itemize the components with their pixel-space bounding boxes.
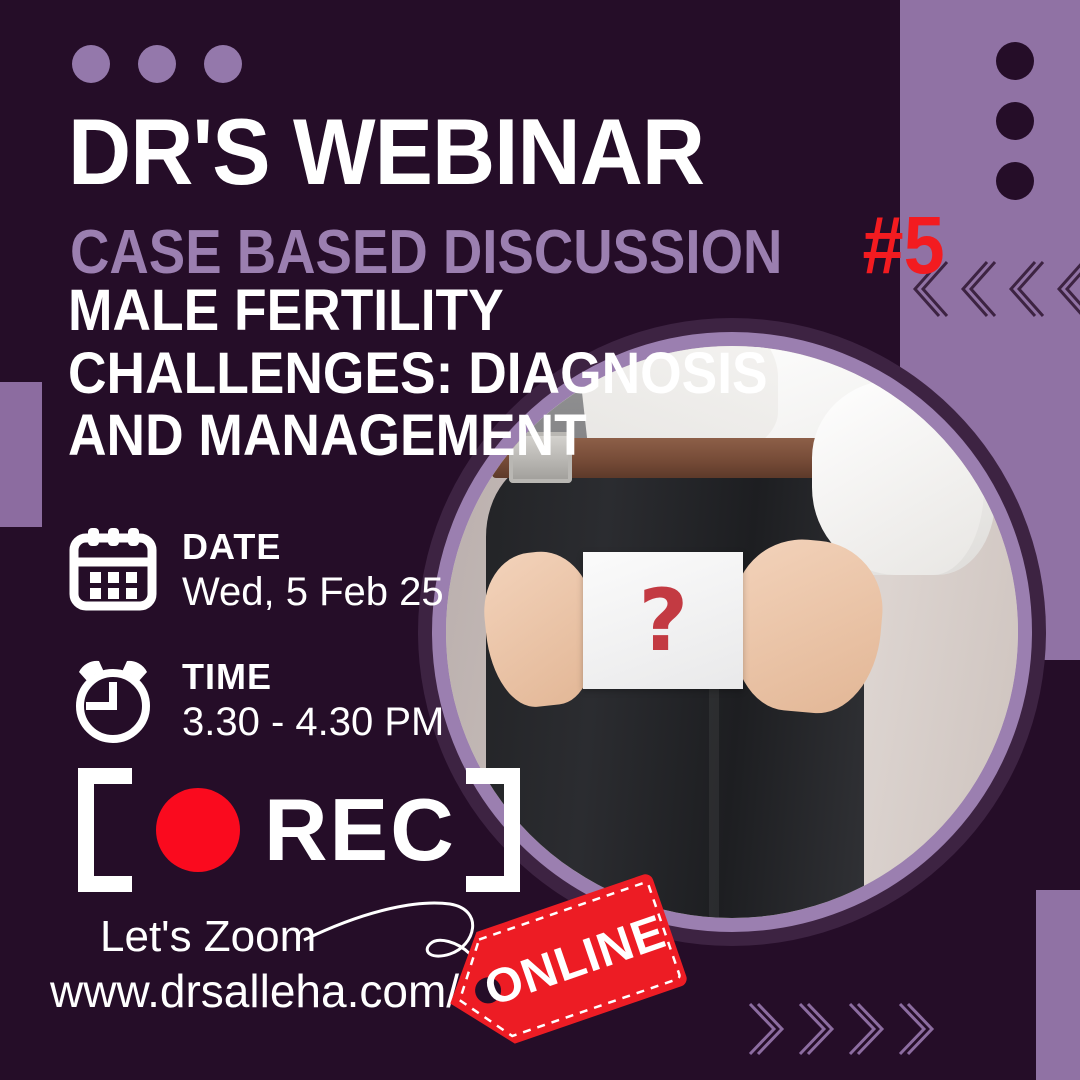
dot-icon bbox=[996, 42, 1034, 80]
chevron-right-icon bbox=[748, 998, 792, 1060]
topic-heading: MALE FERTILITY CHALLENGES: DIAGNOSIS AND… bbox=[68, 280, 768, 468]
time-text: TIME 3.30 - 4.30 PM bbox=[182, 652, 444, 746]
date-row: DATE Wed, 5 Feb 25 bbox=[66, 522, 444, 616]
right-dots-decoration bbox=[996, 42, 1034, 200]
topic-line: AND MANAGEMENT bbox=[68, 405, 768, 468]
page-title: DR'S WEBINAR bbox=[68, 105, 704, 199]
topic-line: CHALLENGES: DIAGNOSIS bbox=[68, 343, 768, 406]
date-label: DATE bbox=[182, 528, 444, 566]
subtitle-row: CASE BASED DISCUSSION #5 bbox=[70, 205, 949, 287]
bracket-left-icon bbox=[78, 768, 132, 892]
chevron-left-icon bbox=[953, 258, 997, 320]
record-dot-icon bbox=[156, 788, 240, 872]
chevron-left-icon bbox=[1049, 258, 1080, 320]
date-value: Wed, 5 Feb 25 bbox=[182, 568, 444, 616]
event-details: DATE Wed, 5 Feb 25 TIME 3.30 - 4.30 PM bbox=[66, 522, 444, 782]
dot-icon bbox=[996, 162, 1034, 200]
rec-label: REC bbox=[264, 786, 456, 874]
bottom-right-purple-block bbox=[1036, 890, 1080, 1080]
chevron-right-icon bbox=[848, 998, 892, 1060]
webinar-poster: ? DR'S WEBINAR CASE BASED DISCUSSION #5 … bbox=[0, 0, 1080, 1080]
question-card: ? bbox=[583, 552, 743, 689]
time-value: 3.30 - 4.30 PM bbox=[182, 698, 444, 746]
recording-badge: REC bbox=[78, 768, 520, 892]
question-mark-icon: ? bbox=[583, 552, 743, 689]
subtitle: CASE BASED DISCUSSION bbox=[70, 222, 782, 284]
dot-icon bbox=[138, 45, 176, 83]
dot-icon bbox=[996, 102, 1034, 140]
alarm-clock-icon bbox=[66, 652, 160, 746]
date-text: DATE Wed, 5 Feb 25 bbox=[182, 522, 444, 616]
bottom-chevrons-decoration bbox=[748, 998, 942, 1060]
dot-icon bbox=[204, 45, 242, 83]
time-label: TIME bbox=[182, 658, 444, 696]
topic-line: MALE FERTILITY bbox=[68, 280, 768, 343]
chevron-left-icon bbox=[1001, 258, 1045, 320]
chevron-right-icon bbox=[798, 998, 842, 1060]
left-purple-block bbox=[0, 382, 42, 527]
lets-zoom-label: Let's Zoom bbox=[100, 915, 316, 959]
chevron-right-icon bbox=[898, 998, 942, 1060]
bracket-right-icon bbox=[466, 768, 520, 892]
top-dots-decoration bbox=[72, 45, 242, 83]
calendar-icon bbox=[66, 522, 160, 616]
issue-number: #5 bbox=[862, 205, 944, 287]
photo-leg-split bbox=[709, 666, 719, 929]
dot-icon bbox=[72, 45, 110, 83]
time-row: TIME 3.30 - 4.30 PM bbox=[66, 652, 444, 746]
